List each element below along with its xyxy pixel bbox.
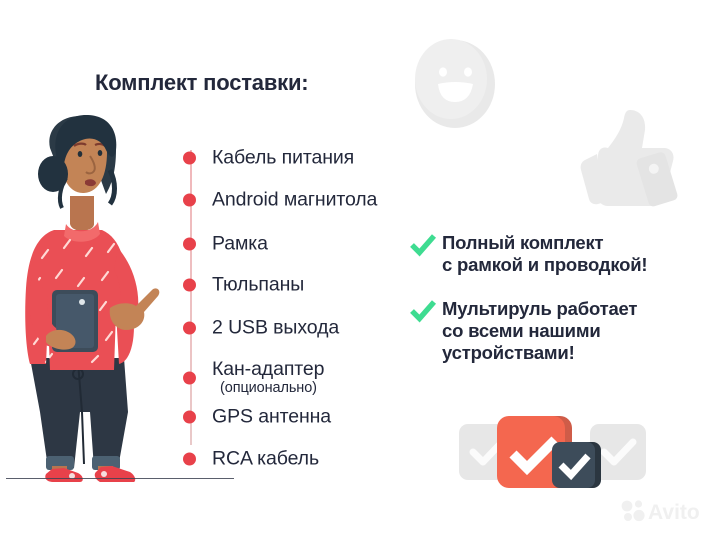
- page-title: Комплект поставки:: [95, 70, 308, 96]
- list-item: Тюльпаны: [183, 272, 393, 298]
- avito-watermark: Avito: [620, 498, 706, 524]
- bullet-dot: [183, 453, 196, 466]
- benefit-label: Мультируль работает со всеми нашими устр…: [442, 298, 637, 363]
- check-icon: [408, 296, 438, 326]
- list-item: Рамка: [183, 231, 393, 257]
- eye-left: [78, 151, 83, 157]
- bullet-dot: [183, 372, 196, 385]
- list-item-label: Android магнитола: [212, 189, 377, 212]
- hair-strand-right: [110, 170, 115, 204]
- list-item: Android магнитола: [183, 187, 413, 213]
- bullet-dot: [183, 238, 196, 251]
- list-item-note: (опционально): [220, 380, 324, 396]
- list-item: RCA кабель: [183, 446, 393, 472]
- bullet-dot: [183, 194, 196, 207]
- list-item: GPS антенна: [183, 404, 393, 430]
- bullet-dot: [183, 322, 196, 335]
- shoe-left: [45, 468, 83, 482]
- list-item: 2 USB выхода: [183, 315, 393, 341]
- neck: [70, 196, 94, 231]
- promo-image: Комплект поставки: Кабель питания Androi…: [0, 0, 720, 540]
- benefit-label: Полный комплект с рамкой и проводкой!: [442, 232, 647, 276]
- benefit-item: Полный комплект с рамкой и проводкой!: [408, 232, 678, 282]
- list-item-label: Рамка: [212, 233, 268, 256]
- checkbox-cards-group: [455, 404, 650, 500]
- bullet-dot: [183, 152, 196, 165]
- bullet-dot: [183, 279, 196, 292]
- eye-right: [98, 150, 103, 156]
- list-item-label: GPS антенна: [212, 406, 331, 429]
- bullet-dot: [183, 411, 196, 424]
- list-item-label: 2 USB выхода: [212, 317, 339, 340]
- tablet-camera: [79, 299, 85, 305]
- benefit-item: Мультируль работает со всеми нашими устр…: [408, 298, 678, 370]
- list-item-label: Тюльпаны: [212, 274, 304, 297]
- list-item: Кабель питания: [183, 145, 393, 171]
- list-item-label: RCA кабель: [212, 448, 319, 471]
- ground-line: [6, 478, 234, 479]
- list-item-label: Кабель питания: [212, 147, 354, 170]
- thumbs-up-icon: [572, 104, 686, 216]
- avito-wordmark: Avito: [648, 501, 700, 524]
- check-icon: [408, 230, 438, 260]
- smiley-face-icon: [406, 34, 504, 134]
- shoe-right: [95, 466, 135, 482]
- woman-pointing-with-tablet: [6, 112, 166, 482]
- shoe-detail-right: [101, 471, 107, 477]
- list-item: Кан-адаптер (опционально): [183, 358, 393, 398]
- list-item-label: Кан-адаптер (опционально): [212, 358, 324, 396]
- checkbox-card-dark: [552, 442, 595, 488]
